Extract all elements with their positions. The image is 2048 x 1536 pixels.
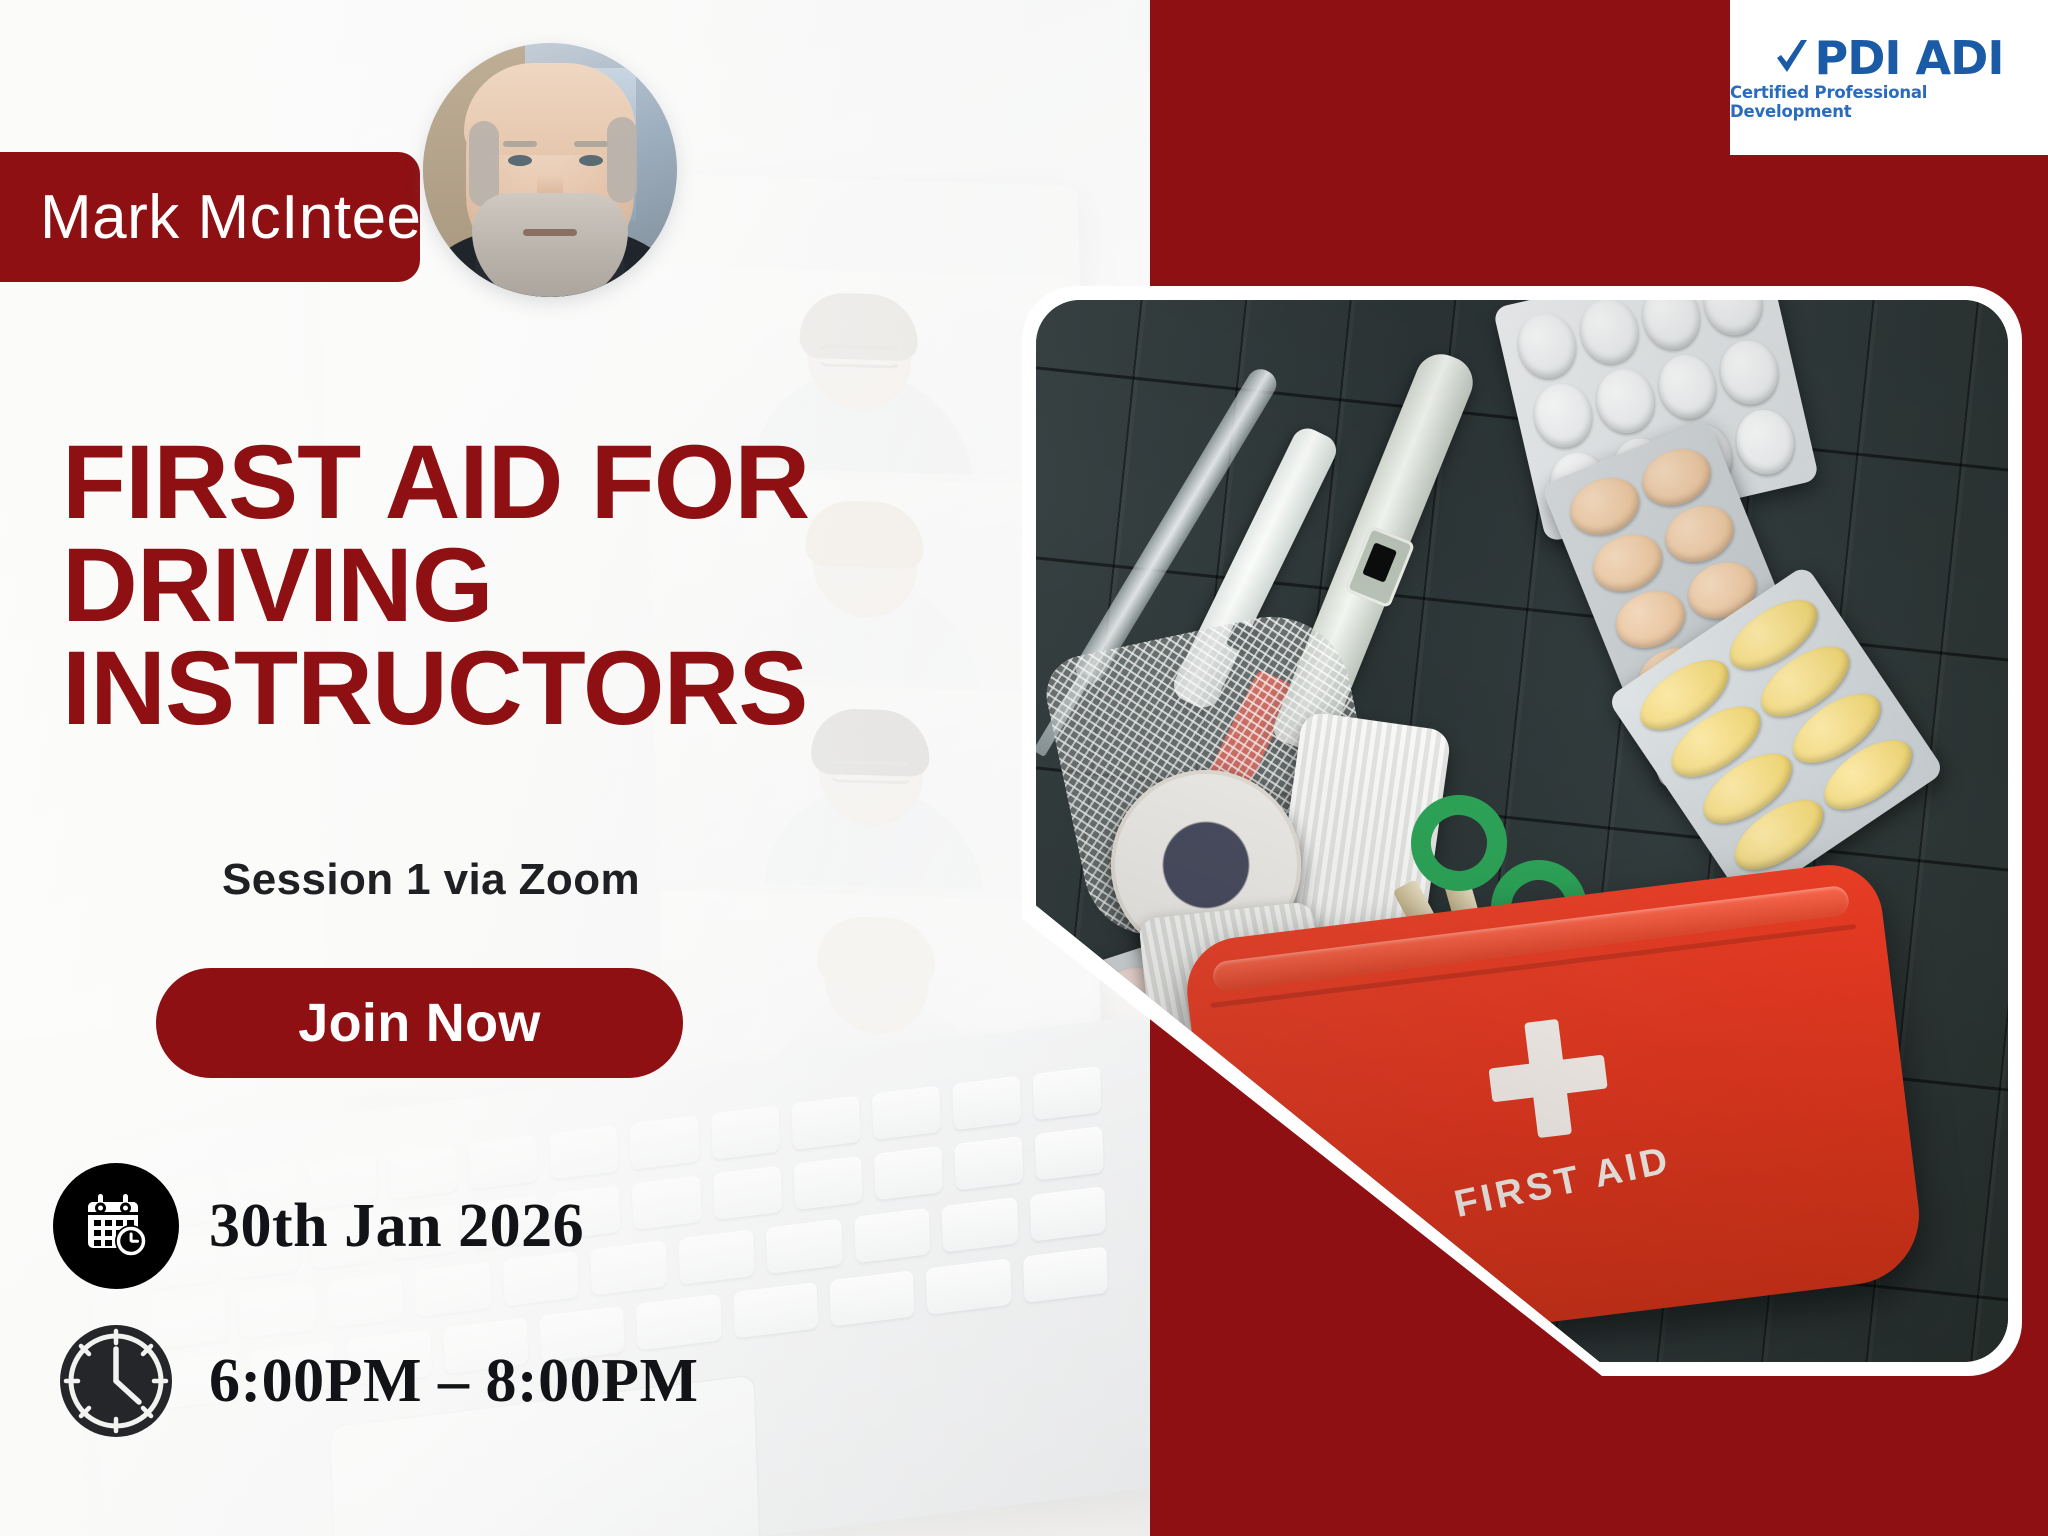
session-subtitle: Session 1 via Zoom: [222, 855, 640, 905]
logo-wordmark: PDI ADI: [1815, 35, 2004, 81]
presenter-name: Mark McIntee: [40, 182, 422, 253]
title-line-2: DRIVING: [62, 535, 1072, 638]
logo-tagline: Certified Professional Development: [1730, 83, 2048, 121]
promo-poster: PDI ADI Certified Professional Developme…: [0, 0, 2048, 1536]
event-date-row: 30th Jan 2026: [53, 1163, 584, 1289]
join-now-button[interactable]: Join Now: [156, 968, 683, 1078]
title-line-3: INSTRUCTORS: [62, 638, 1072, 741]
presenter-name-banner: Mark McIntee: [0, 152, 420, 282]
event-time-value: 6:00PM – 8:00PM: [209, 1346, 699, 1417]
medical-cross-icon: [1483, 1014, 1612, 1143]
check-mark-icon: [1775, 38, 1809, 78]
event-time-row: 6:00PM – 8:00PM: [53, 1318, 699, 1444]
presenter-avatar: [423, 43, 677, 297]
clock-icon: [53, 1318, 179, 1444]
poster-title: FIRST AID FOR DRIVING INSTRUCTORS: [62, 432, 1072, 741]
calendar-clock-icon: [53, 1163, 179, 1289]
brand-logo: PDI ADI Certified Professional Developme…: [1730, 0, 2048, 155]
title-line-1: FIRST AID FOR: [62, 432, 1072, 535]
event-date-value: 30th Jan 2026: [209, 1191, 584, 1262]
